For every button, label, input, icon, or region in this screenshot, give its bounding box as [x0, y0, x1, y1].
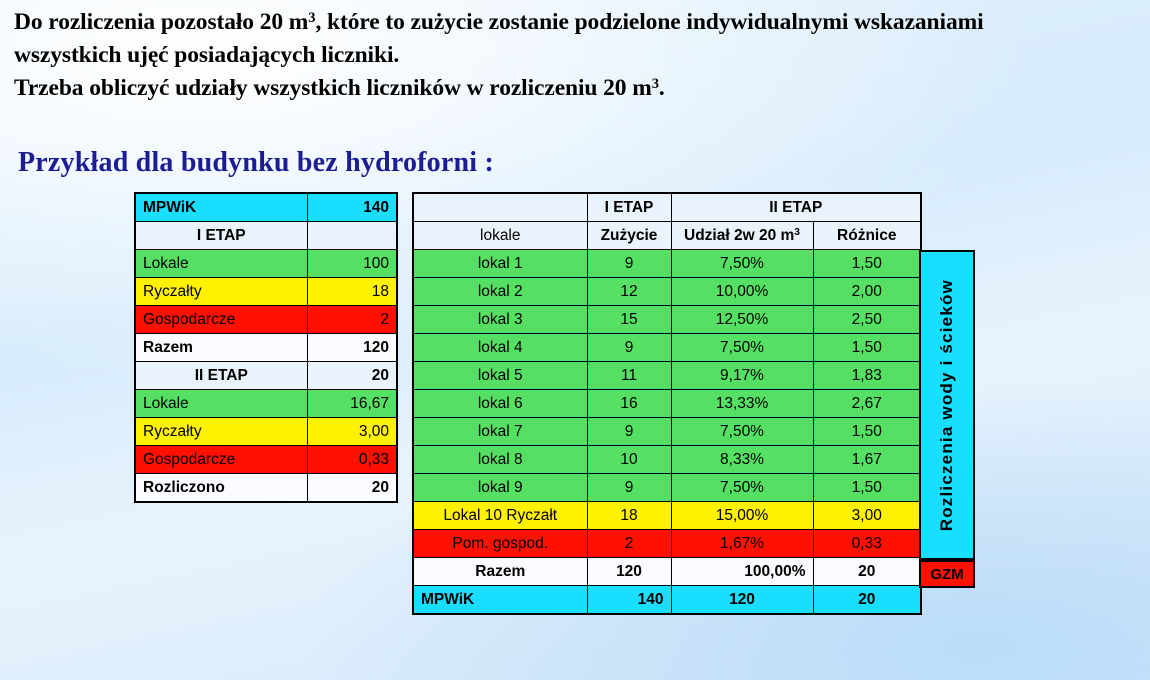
detail-row-roznica: 3,00 — [813, 502, 921, 530]
summary-table-left: MPWiK140I ETAPLokale100Ryczałty18Gospoda… — [134, 192, 398, 503]
detail-row-roznica: 1,67 — [813, 446, 921, 474]
detail-row: lokal 31512,50%2,50 — [413, 306, 921, 334]
detail-row: Lokal 10 Ryczałt1815,00%3,00 — [413, 502, 921, 530]
mpwik-row-roznica: 20 — [813, 586, 921, 615]
summary-row-label: II ETAP — [135, 362, 307, 390]
detail-row-udzial: 12,50% — [671, 306, 813, 334]
mpwik-row-label: MPWiK — [413, 586, 587, 615]
detail-table-right-body: I ETAP II ETAP lokale Zużycie Udział 2w … — [413, 193, 921, 614]
detail-row-roznica: 1,50 — [813, 418, 921, 446]
detail-row-zuzycie: 9 — [587, 418, 671, 446]
detail-row-zuzycie: 9 — [587, 474, 671, 502]
column-header-roznice: Różnice — [813, 222, 921, 250]
detail-row-roznica: 2,67 — [813, 390, 921, 418]
totals-row-udzial: 100,00% — [671, 558, 813, 586]
detail-row-lokal: lokal 6 — [413, 390, 587, 418]
detail-row: lokal 61613,33%2,67 — [413, 390, 921, 418]
detail-row-roznica: 1,83 — [813, 362, 921, 390]
mpwik-row: MPWiK14012020 — [413, 586, 921, 615]
detail-row-lokal: Lokal 10 Ryczałt — [413, 502, 587, 530]
detail-row-zuzycie: 18 — [587, 502, 671, 530]
column-header-udzial-superscript: 3 — [794, 226, 800, 237]
intro-paragraph: Do rozliczenia pozostało 20 m3, które to… — [14, 6, 1139, 105]
totals-row: Razem120100,00%20 — [413, 558, 921, 586]
summary-row: Razem120 — [135, 334, 397, 362]
mpwik-row-udzial: 120 — [671, 586, 813, 615]
summary-row-label: Ryczałty — [135, 278, 307, 306]
intro-line-3-part-b: . — [659, 75, 665, 101]
detail-row-lokal: lokal 3 — [413, 306, 587, 334]
totals-row-zuzycie: 120 — [587, 558, 671, 586]
detail-row: lokal 8108,33%1,67 — [413, 446, 921, 474]
detail-row-roznica: 1,50 — [813, 334, 921, 362]
summary-row-label: Lokale — [135, 390, 307, 418]
detail-row-udzial: 7,50% — [671, 418, 813, 446]
summary-table-left-body: MPWiK140I ETAPLokale100Ryczałty18Gospoda… — [135, 193, 397, 502]
group-header-etap1: I ETAP — [587, 193, 671, 222]
summary-row-value — [307, 222, 397, 250]
column-header-udzial: Udział 2w 20 m3 — [671, 222, 813, 250]
detail-row-udzial: 8,33% — [671, 446, 813, 474]
detail-row-zuzycie: 16 — [587, 390, 671, 418]
section-title: Przykład dla budynku bez hydroforni : — [18, 147, 494, 179]
intro-line-3-superscript: 3 — [652, 76, 659, 92]
detail-row-lokal: Pom. gospod. — [413, 530, 587, 558]
gzm-badge: GZM — [919, 560, 975, 588]
summary-row: Gospodarcze0,33 — [135, 446, 397, 474]
detail-row-udzial: 13,33% — [671, 390, 813, 418]
column-header-lokale: lokale — [413, 222, 587, 250]
detail-row-udzial: 1,67% — [671, 530, 813, 558]
summary-row: I ETAP — [135, 222, 397, 250]
detail-row-udzial: 7,50% — [671, 334, 813, 362]
detail-row-lokal: lokal 7 — [413, 418, 587, 446]
detail-row-zuzycie: 10 — [587, 446, 671, 474]
detail-row-roznica: 1,50 — [813, 474, 921, 502]
detail-row-zuzycie: 9 — [587, 334, 671, 362]
detail-row: lokal 197,50%1,50 — [413, 250, 921, 278]
side-banner-label: Rozliczenia wody i ścieków — [937, 279, 957, 531]
group-header-blank — [413, 193, 587, 222]
detail-row: lokal 797,50%1,50 — [413, 418, 921, 446]
summary-row-value: 2 — [307, 306, 397, 334]
summary-row-label: MPWiK — [135, 193, 307, 222]
totals-row-label: Razem — [413, 558, 587, 586]
summary-row: Rozliczono20 — [135, 474, 397, 503]
detail-row-roznica: 1,50 — [813, 250, 921, 278]
detail-row-zuzycie: 15 — [587, 306, 671, 334]
group-header-etap2: II ETAP — [671, 193, 921, 222]
intro-line-3-part-a: Trzeba obliczyć udziały wszystkich liczn… — [14, 75, 652, 101]
detail-row: lokal 5119,17%1,83 — [413, 362, 921, 390]
summary-row: Ryczałty18 — [135, 278, 397, 306]
detail-row-lokal: lokal 8 — [413, 446, 587, 474]
detail-row-zuzycie: 2 — [587, 530, 671, 558]
summary-row: Gospodarcze2 — [135, 306, 397, 334]
column-header-row: lokale Zużycie Udział 2w 20 m3 Różnice — [413, 222, 921, 250]
detail-row-zuzycie: 11 — [587, 362, 671, 390]
detail-row-udzial: 10,00% — [671, 278, 813, 306]
summary-row: Lokale100 — [135, 250, 397, 278]
summary-row-value: 20 — [307, 362, 397, 390]
summary-row: Ryczałty3,00 — [135, 418, 397, 446]
summary-row-value: 120 — [307, 334, 397, 362]
detail-row: Pom. gospod.21,67%0,33 — [413, 530, 921, 558]
summary-row-value: 3,00 — [307, 418, 397, 446]
summary-row-label: Lokale — [135, 250, 307, 278]
slide-canvas: Do rozliczenia pozostało 20 m3, które to… — [0, 0, 1150, 680]
detail-row-lokal: lokal 4 — [413, 334, 587, 362]
detail-row: lokal 497,50%1,50 — [413, 334, 921, 362]
intro-line-2: wszystkich ujęć posiadających liczniki. — [14, 39, 1139, 72]
detail-row-roznica: 2,00 — [813, 278, 921, 306]
detail-row-zuzycie: 12 — [587, 278, 671, 306]
detail-row-lokal: lokal 2 — [413, 278, 587, 306]
summary-row-label: Gospodarcze — [135, 306, 307, 334]
detail-row: lokal 997,50%1,50 — [413, 474, 921, 502]
detail-row-roznica: 2,50 — [813, 306, 921, 334]
mpwik-row-zuzycie: 140 — [587, 586, 671, 615]
summary-row-value: 100 — [307, 250, 397, 278]
intro-line-3: Trzeba obliczyć udziały wszystkich liczn… — [14, 72, 1139, 105]
summary-row-label: Razem — [135, 334, 307, 362]
summary-row-label: Ryczałty — [135, 418, 307, 446]
summary-row: MPWiK140 — [135, 193, 397, 222]
summary-row-label: I ETAP — [135, 222, 307, 250]
summary-row-value: 140 — [307, 193, 397, 222]
side-banner: Rozliczenia wody i ścieków — [919, 250, 975, 560]
column-header-udzial-text: Udział 2w 20 m — [684, 227, 794, 244]
summary-row-value: 20 — [307, 474, 397, 503]
detail-row-lokal: lokal 1 — [413, 250, 587, 278]
intro-line-1: Do rozliczenia pozostało 20 m3, które to… — [14, 6, 1139, 39]
totals-row-roznica: 20 — [813, 558, 921, 586]
detail-row-udzial: 7,50% — [671, 250, 813, 278]
detail-row-udzial: 15,00% — [671, 502, 813, 530]
detail-row: lokal 21210,00%2,00 — [413, 278, 921, 306]
detail-row-lokal: lokal 5 — [413, 362, 587, 390]
summary-row-label: Gospodarcze — [135, 446, 307, 474]
detail-row-lokal: lokal 9 — [413, 474, 587, 502]
detail-row-zuzycie: 9 — [587, 250, 671, 278]
summary-row: Lokale16,67 — [135, 390, 397, 418]
intro-line-1-part-a: Do rozliczenia pozostało 20 m — [14, 9, 308, 35]
column-header-zuzycie: Zużycie — [587, 222, 671, 250]
summary-row-value: 18 — [307, 278, 397, 306]
detail-table-right: I ETAP II ETAP lokale Zużycie Udział 2w … — [412, 192, 922, 615]
summary-row-value: 0,33 — [307, 446, 397, 474]
summary-row-label: Rozliczono — [135, 474, 307, 503]
summary-row: II ETAP20 — [135, 362, 397, 390]
detail-row-udzial: 9,17% — [671, 362, 813, 390]
intro-line-1-part-b: , które to zużycie zostanie podzielone i… — [315, 9, 983, 35]
group-header-row: I ETAP II ETAP — [413, 193, 921, 222]
detail-row-udzial: 7,50% — [671, 474, 813, 502]
summary-row-value: 16,67 — [307, 390, 397, 418]
detail-row-roznica: 0,33 — [813, 530, 921, 558]
